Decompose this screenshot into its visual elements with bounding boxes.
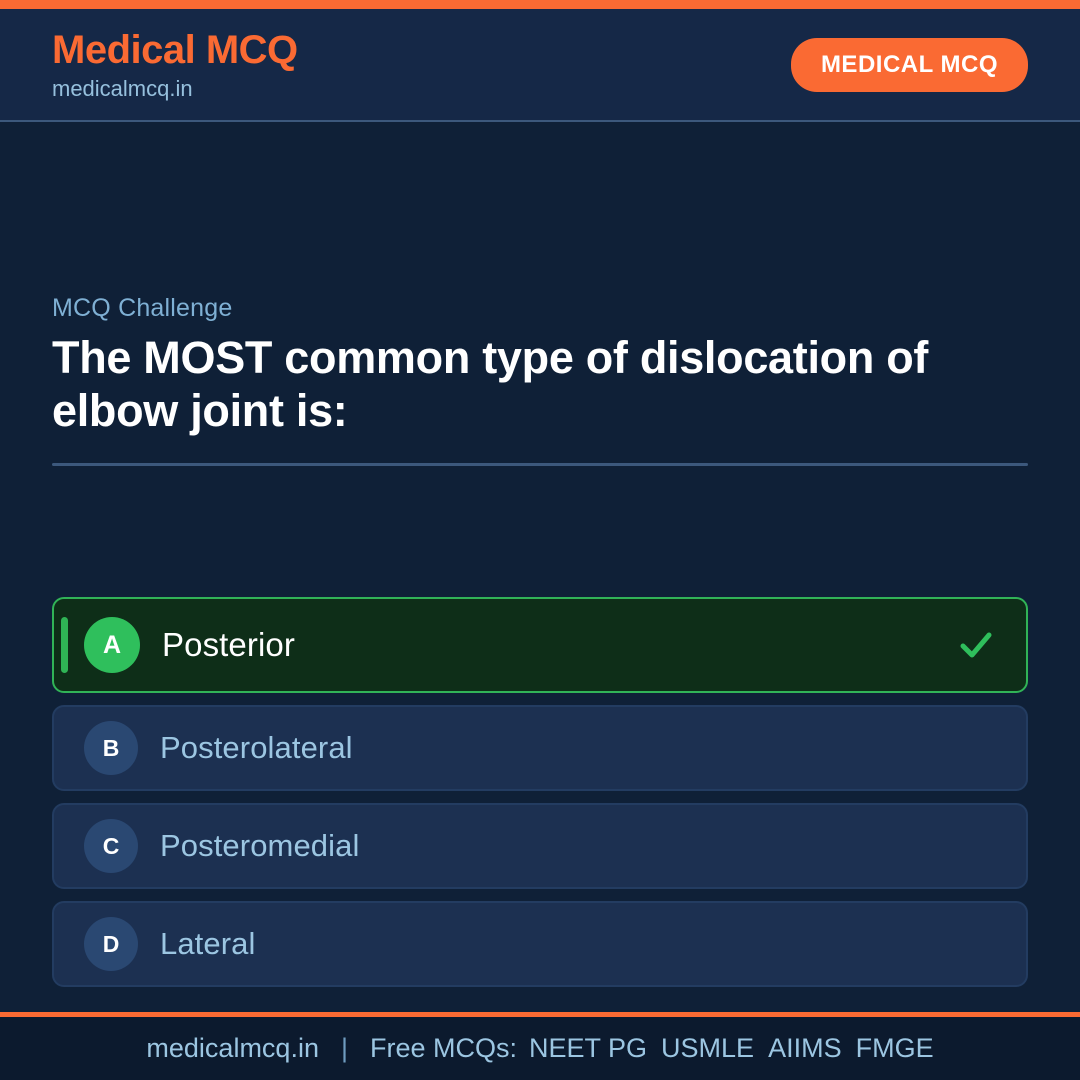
top-accent-bar [0, 0, 1080, 9]
option-label-b: Posterolateral [160, 730, 353, 766]
question-block: MCQ Challenge The MOST common type of di… [52, 294, 1028, 466]
footer-exam-fmge[interactable]: FMGE [856, 1033, 934, 1064]
option-badge-b: B [84, 721, 138, 775]
correct-accent-bar [61, 617, 68, 673]
footer-exam-neet-pg[interactable]: NEET PG [529, 1033, 647, 1064]
footer-text: medicalmcq.in | Free MCQs: NEET PG USMLE… [146, 1033, 933, 1064]
footer-exam-usmle[interactable]: USMLE [661, 1033, 754, 1064]
mcq-card: Medical MCQ medicalmcq.in MEDICAL MCQ MC… [0, 0, 1080, 1080]
option-label-a: Posterior [162, 626, 295, 664]
option-label-c: Posteromedial [160, 828, 359, 864]
question-eyebrow: MCQ Challenge [52, 294, 1028, 323]
footer-site-link[interactable]: medicalmcq.in [146, 1033, 319, 1064]
option-badge-a: A [84, 617, 140, 673]
question-text: The MOST common type of dislocation of e… [52, 331, 932, 437]
main-content: MCQ Challenge The MOST common type of di… [0, 122, 1080, 1012]
option-a[interactable]: A Posterior [52, 597, 1028, 693]
option-badge-d: D [84, 917, 138, 971]
option-badge-c: C [84, 819, 138, 873]
brand: Medical MCQ medicalmcq.in [52, 30, 298, 100]
option-b[interactable]: B Posterolateral [52, 705, 1028, 791]
option-d[interactable]: D Lateral [52, 901, 1028, 987]
footer: medicalmcq.in | Free MCQs: NEET PG USMLE… [0, 1012, 1080, 1080]
footer-prefix: Free MCQs: [370, 1033, 517, 1064]
brand-title: Medical MCQ [52, 30, 298, 70]
header-badge: MEDICAL MCQ [791, 38, 1028, 92]
brand-subtitle: medicalmcq.in [52, 78, 298, 100]
options-list: A Posterior B Posterolateral C Posterome… [52, 597, 1028, 987]
footer-exam-aiims[interactable]: AIIMS [768, 1033, 842, 1064]
check-icon [954, 623, 998, 667]
footer-separator: | [341, 1033, 348, 1064]
option-c[interactable]: C Posteromedial [52, 803, 1028, 889]
option-label-d: Lateral [160, 926, 256, 962]
header: Medical MCQ medicalmcq.in MEDICAL MCQ [0, 9, 1080, 122]
question-divider [52, 463, 1028, 466]
